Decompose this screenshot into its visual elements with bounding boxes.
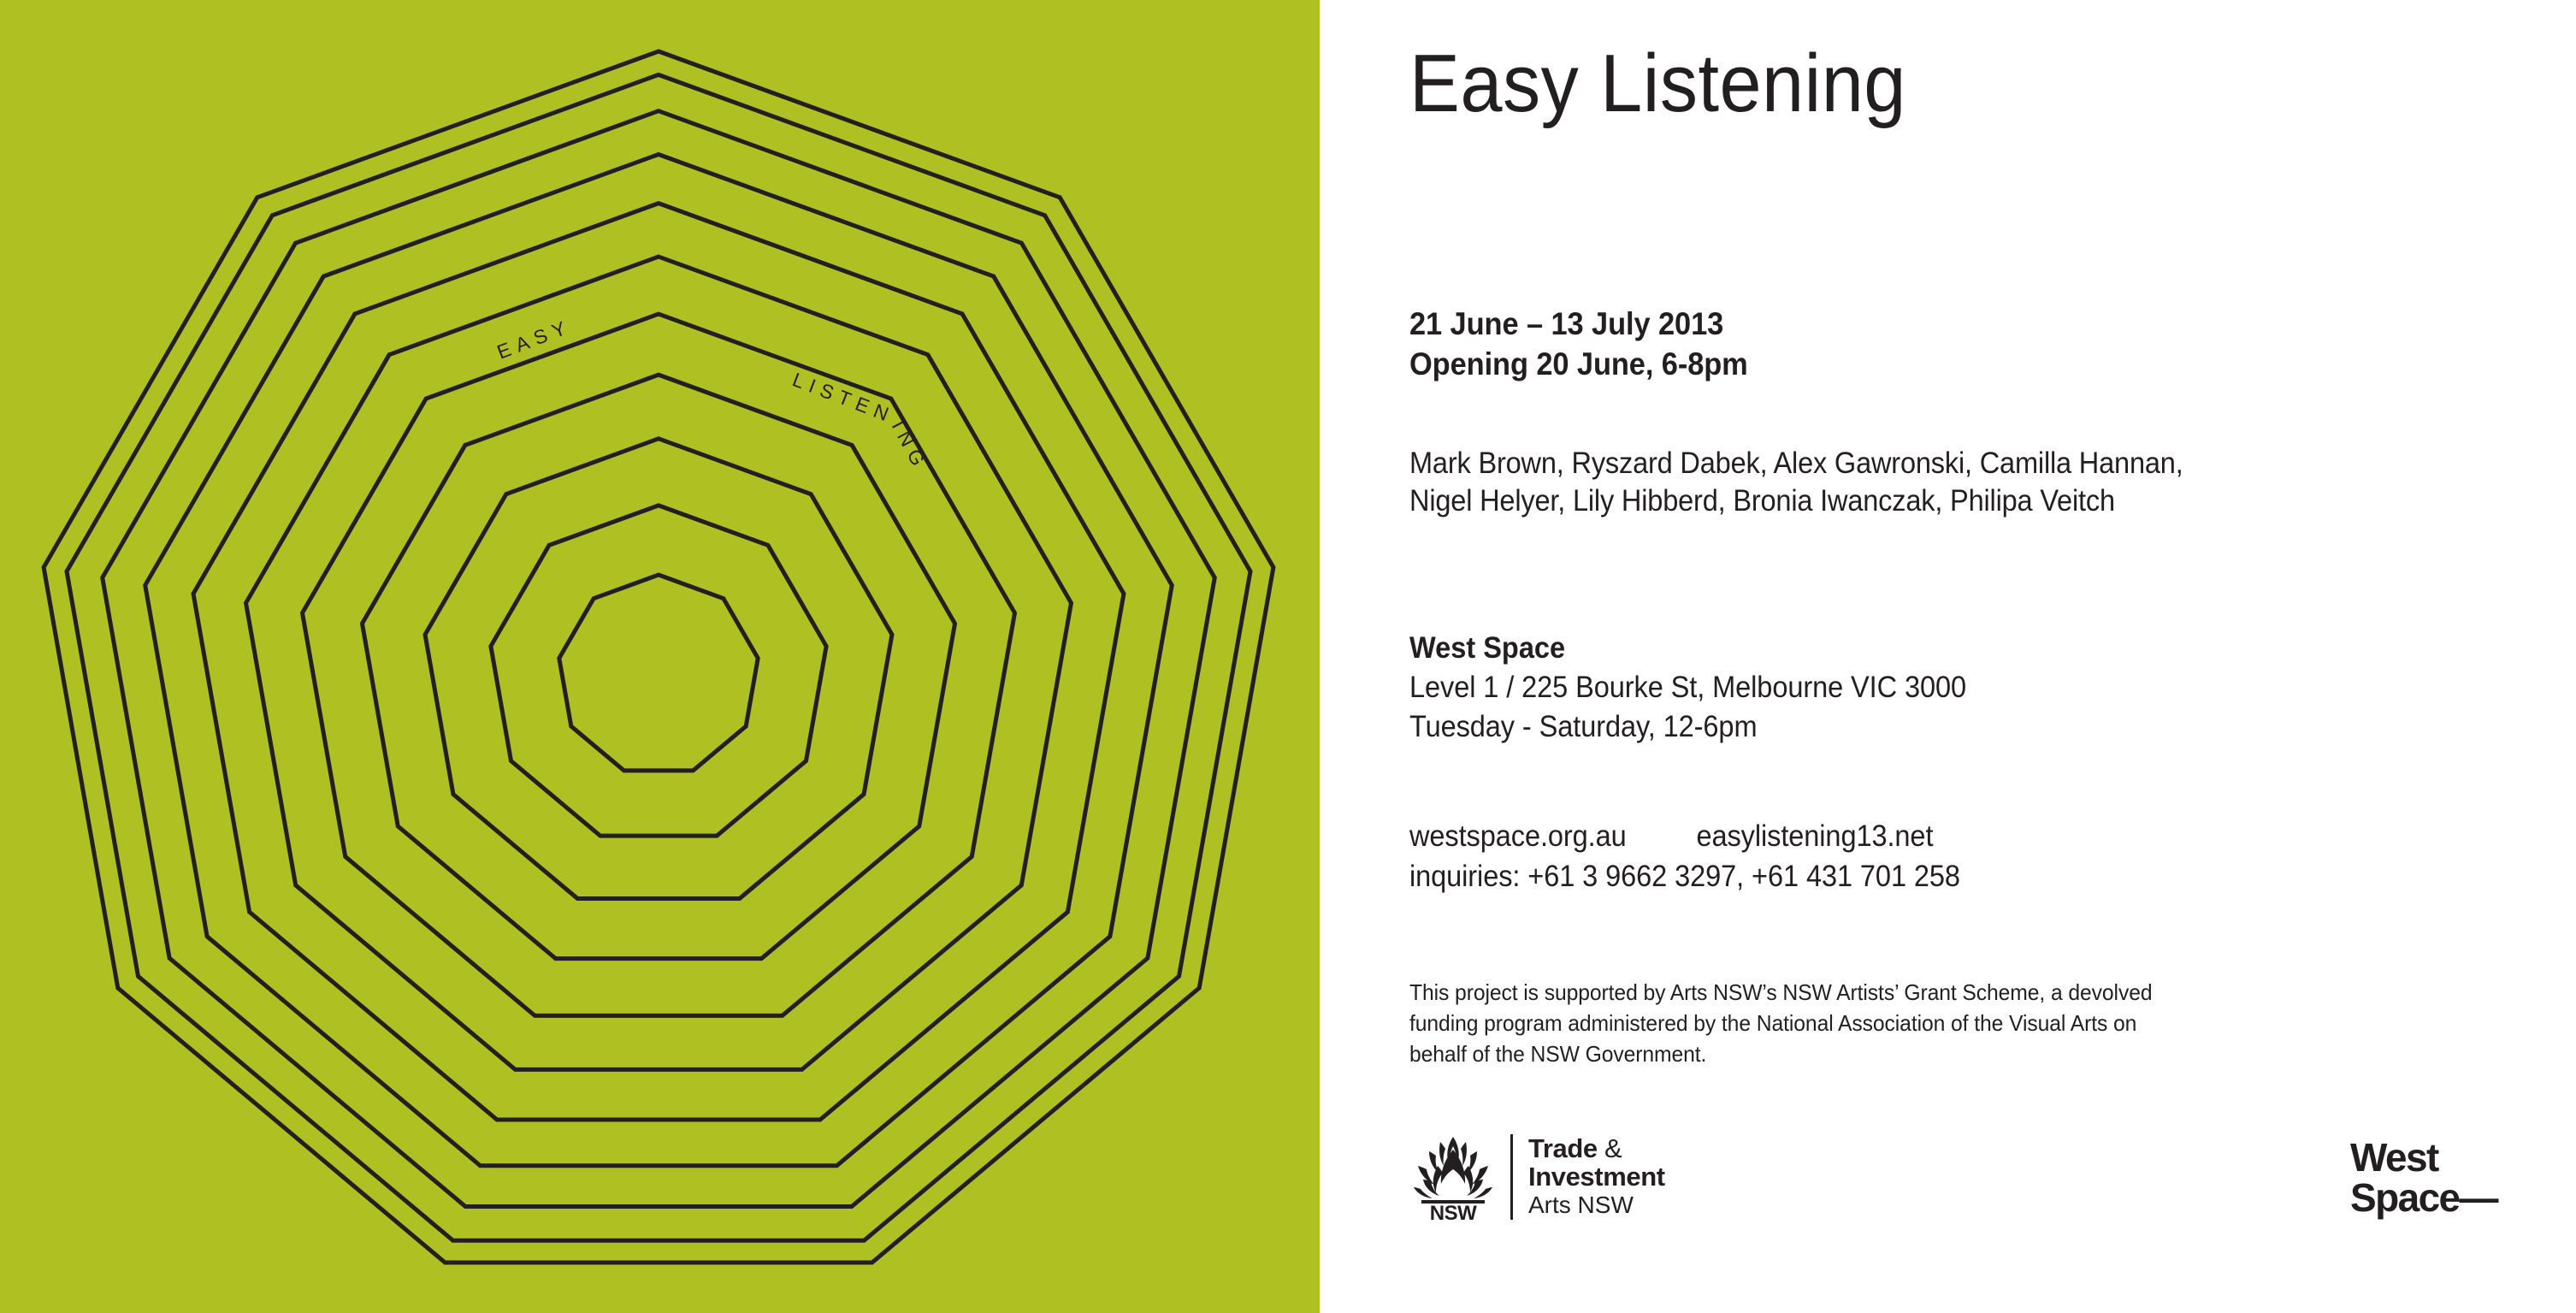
nsw-wordmark-arts: Arts NSW	[1528, 1192, 1665, 1218]
artists-line-2: Nigel Helyer, Lily Hibberd, Bronia Iwanc…	[1409, 482, 2183, 520]
venue-block: West Space Level 1 / 225 Bourke St, Melb…	[1409, 629, 2008, 748]
support-line-1: This project is supported by Arts NSW’s …	[1409, 978, 2319, 1008]
contact-block: westspace.org.aueasylistening13.net inqu…	[1409, 817, 2001, 896]
support-line-2: funding program administered by the Nati…	[1409, 1008, 2319, 1039]
opening-details: Opening 20 June, 6-8pm	[1409, 344, 1748, 384]
svg-text:NSW: NSW	[1430, 1202, 1477, 1223]
artists-list: Mark Brown, Ryszard Dabek, Alex Gawronsk…	[1409, 445, 2242, 521]
concentric-nonagon-artwork: EASY LISTEN ING	[0, 0, 1320, 1313]
nsw-government-logo: NSW Trade & Investment Arts NSW	[1409, 1127, 1665, 1226]
venue-name: West Space	[1409, 629, 1966, 668]
website-row: westspace.org.aueasylistening13.net	[1409, 817, 1960, 857]
inquiries-line: inquiries: +61 3 9662 3297, +61 431 701 …	[1409, 857, 1960, 897]
artists-line-1: Mark Brown, Ryszard Dabek, Alex Gawronsk…	[1409, 445, 2183, 482]
link-westspace[interactable]: westspace.org.au	[1409, 819, 1627, 853]
venue-address: Level 1 / 225 Bourke St, Melbourne VIC 3…	[1409, 668, 1966, 707]
support-line-3: behalf of the NSW Government.	[1409, 1039, 2319, 1070]
westspace-logo-line-1: West	[2350, 1138, 2497, 1178]
logo-divider	[1510, 1134, 1513, 1220]
nsw-trade-text: Trade	[1528, 1133, 1598, 1163]
artwork-panel: EASY LISTEN ING	[0, 0, 1320, 1313]
dates-block: 21 June – 13 July 2013 Opening 20 June, …	[1409, 304, 1773, 385]
link-easylistening[interactable]: easylistening13.net	[1696, 819, 1933, 853]
westspace-logo: West Space—	[2350, 1138, 2497, 1218]
green-background	[0, 0, 1320, 1313]
nsw-wordmark-investment: Investment	[1528, 1163, 1665, 1192]
nsw-waratah-icon: NSW	[1409, 1131, 1497, 1223]
poster-root: EASY LISTEN ING Easy Listening 21 June –…	[0, 0, 2576, 1313]
exhibition-run-dates: 21 June – 13 July 2013	[1409, 304, 1748, 344]
nsw-ampersand: &	[1604, 1133, 1622, 1163]
page-title: Easy Listening	[1409, 43, 1906, 125]
nsw-wordmark: Trade & Investment Arts NSW	[1528, 1135, 1665, 1217]
venue-hours: Tuesday - Saturday, 12-6pm	[1409, 707, 1966, 747]
support-statement: This project is supported by Arts NSW’s …	[1409, 978, 2367, 1070]
info-panel: Easy Listening 21 June – 13 July 2013 Op…	[1320, 0, 2576, 1313]
westspace-logo-line-2: Space—	[2350, 1178, 2497, 1218]
nsw-wordmark-trade: Trade &	[1528, 1135, 1665, 1163]
